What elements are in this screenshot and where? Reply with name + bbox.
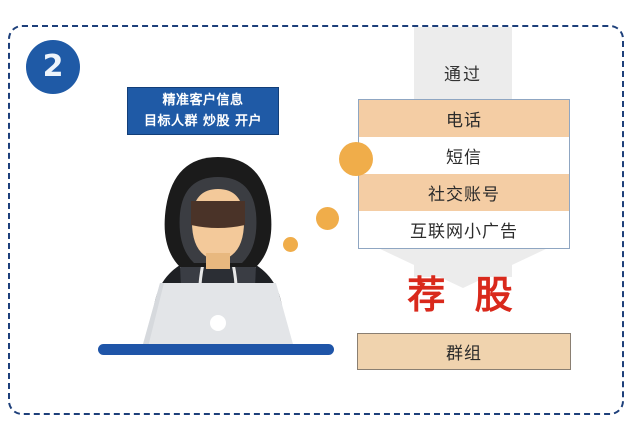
contact-channel-list: 电话 短信 社交账号 互联网小广告 bbox=[358, 99, 570, 249]
list-item: 短信 bbox=[359, 137, 569, 174]
through-label: 通过 bbox=[414, 58, 512, 86]
orange-dot-large bbox=[339, 142, 373, 176]
hacker-illustration bbox=[98, 155, 338, 355]
list-item: 电话 bbox=[359, 100, 569, 137]
list-item: 社交账号 bbox=[359, 174, 569, 211]
callout-line-2: 目标人群 炒股 开户 bbox=[144, 111, 262, 132]
target-info-callout: 精准客户信息 目标人群 炒股 开户 bbox=[127, 87, 279, 135]
infographic-canvas: 2 精准客户信息 目标人群 炒股 开户 通过 电话 短信 社交账号 互联网小广告… bbox=[0, 0, 640, 434]
list-item: 互联网小广告 bbox=[359, 211, 569, 248]
group-box: 群组 bbox=[357, 333, 571, 370]
laptop-logo bbox=[210, 315, 226, 331]
callout-line-1: 精准客户信息 bbox=[162, 90, 243, 111]
step-number: 2 bbox=[26, 40, 80, 94]
step-badge: 2 bbox=[26, 40, 80, 94]
stock-pitch-headline: 荐 股 bbox=[358, 268, 570, 314]
desk-bar bbox=[98, 344, 334, 355]
